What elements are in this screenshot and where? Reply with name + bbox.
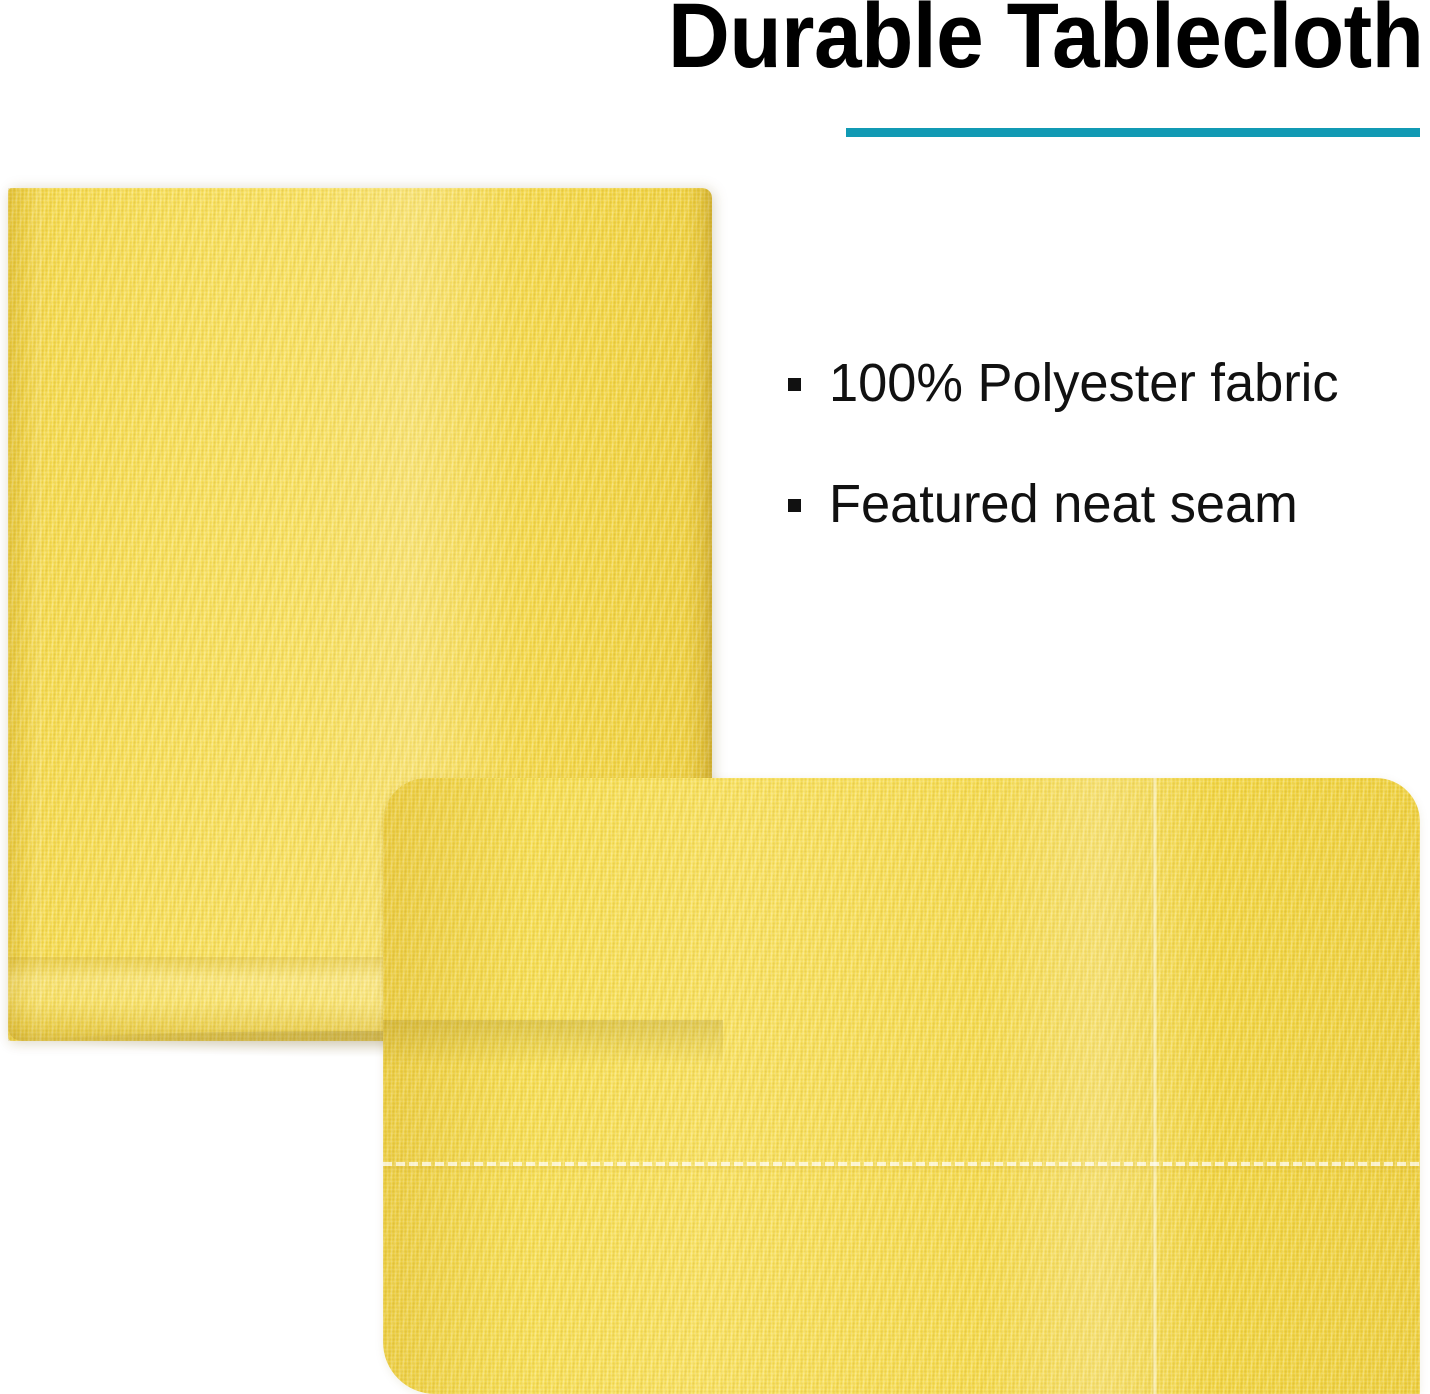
title-accent-rule — [846, 128, 1420, 137]
fabric-left-shading — [383, 778, 533, 1394]
feature-list-item: 100% Polyester fabric — [788, 352, 1408, 416]
headline-block: Durable Tablecloth — [660, 0, 1430, 150]
fabric-weave-texture — [383, 778, 1420, 1394]
square-bullet-icon — [788, 499, 801, 512]
feature-list-item: Featured neat seam — [788, 473, 1408, 537]
product-feature-image: Durable Tablecloth 100% Polyester fabric… — [0, 0, 1430, 1394]
fabric-twill-texture — [383, 778, 1420, 1394]
fabric-vertical-hem-seam — [1152, 778, 1157, 1394]
page-title: Durable Tablecloth — [668, 0, 1423, 82]
hemmed-tablecloth-corner-image — [383, 778, 1420, 1394]
fabric-sheen-highlight — [983, 778, 1213, 1394]
fabric-left-fold-edge — [8, 188, 42, 1041]
feature-label: 100% Polyester fabric — [829, 352, 1339, 416]
feature-list: 100% Polyester fabric Featured neat seam — [788, 352, 1408, 593]
feature-label: Featured neat seam — [829, 473, 1298, 537]
fabric-horizontal-hem-stitching — [383, 1162, 1420, 1166]
square-bullet-icon — [788, 378, 801, 391]
